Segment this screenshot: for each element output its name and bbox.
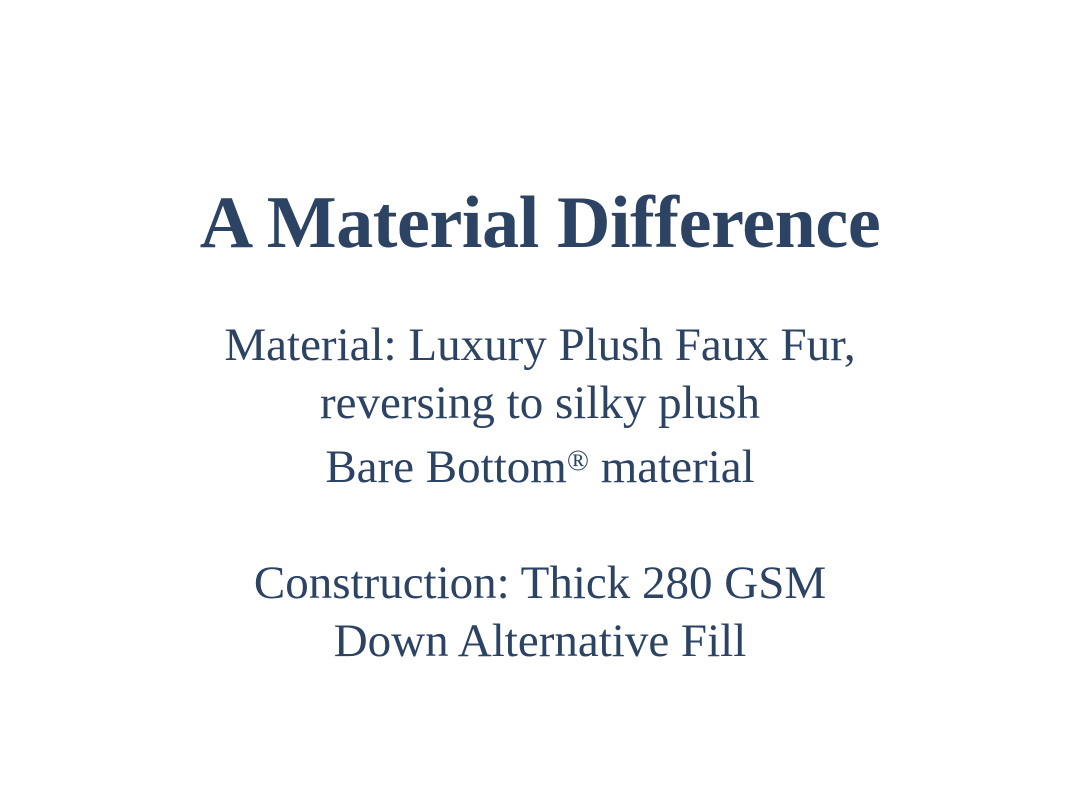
brand-name: Bare Bottom [325,441,567,493]
slide-canvas: A Material Difference Material: Luxury P… [0,0,1080,800]
material-line-2: reversing to silky plush [224,374,855,432]
material-line-3-suffix: material [589,441,755,493]
registered-trademark-icon: ® [567,445,589,477]
construction-line-1: Construction: Thick 280 GSM [254,554,826,612]
material-line-1: Material: Luxury Plush Faux Fur, [224,316,855,374]
material-line-3: Bare Bottom® material [224,432,855,496]
construction-line-2: Down Alternative Fill [254,612,826,670]
page-title: A Material Difference [200,186,881,260]
material-paragraph: Material: Luxury Plush Faux Fur, reversi… [224,316,855,496]
construction-paragraph: Construction: Thick 280 GSM Down Alterna… [254,554,826,670]
slide-body: Material: Luxury Plush Faux Fur, reversi… [0,316,1080,670]
